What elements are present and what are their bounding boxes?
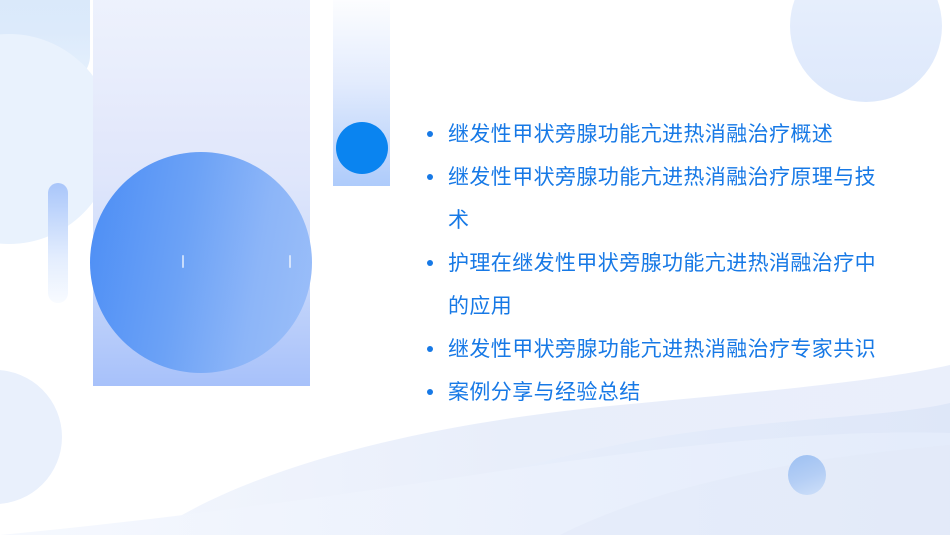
- bullet-dot-icon: [427, 174, 433, 180]
- agenda-item-label: 案例分享与经验总结: [448, 381, 641, 404]
- agenda-item[interactable]: 护理在继发性甲状旁腺功能亢进热消融治疗中的应用: [418, 242, 896, 328]
- agenda-item[interactable]: 继发性甲状旁腺功能亢进热消融治疗概述: [418, 113, 896, 156]
- bullet-dot-icon: [427, 346, 433, 352]
- agenda-item[interactable]: 继发性甲状旁腺功能亢进热消融治疗专家共识: [418, 328, 896, 371]
- bullet-dot-icon: [427, 389, 433, 395]
- agenda-item[interactable]: 继发性甲状旁腺功能亢进热消融治疗原理与技术: [418, 156, 896, 242]
- bullet-dot-icon: [427, 260, 433, 266]
- slide-content: 继发性甲状旁腺功能亢进热消融治疗概述 继发性甲状旁腺功能亢进热消融治疗原理与技术…: [0, 0, 950, 535]
- agenda-item[interactable]: 案例分享与经验总结: [418, 371, 896, 414]
- presentation-slide: 继发性甲状旁腺功能亢进热消融治疗概述 继发性甲状旁腺功能亢进热消融治疗原理与技术…: [0, 0, 950, 535]
- agenda-item-label: 继发性甲状旁腺功能亢进热消融治疗专家共识: [448, 338, 876, 361]
- agenda-list: 继发性甲状旁腺功能亢进热消融治疗概述 继发性甲状旁腺功能亢进热消融治疗原理与技术…: [418, 113, 896, 414]
- agenda-item-label: 护理在继发性甲状旁腺功能亢进热消融治疗中的应用: [448, 252, 876, 318]
- bullet-dot-icon: [427, 131, 433, 137]
- agenda-item-label: 继发性甲状旁腺功能亢进热消融治疗原理与技术: [448, 166, 876, 232]
- agenda-item-label: 继发性甲状旁腺功能亢进热消融治疗概述: [448, 123, 833, 146]
